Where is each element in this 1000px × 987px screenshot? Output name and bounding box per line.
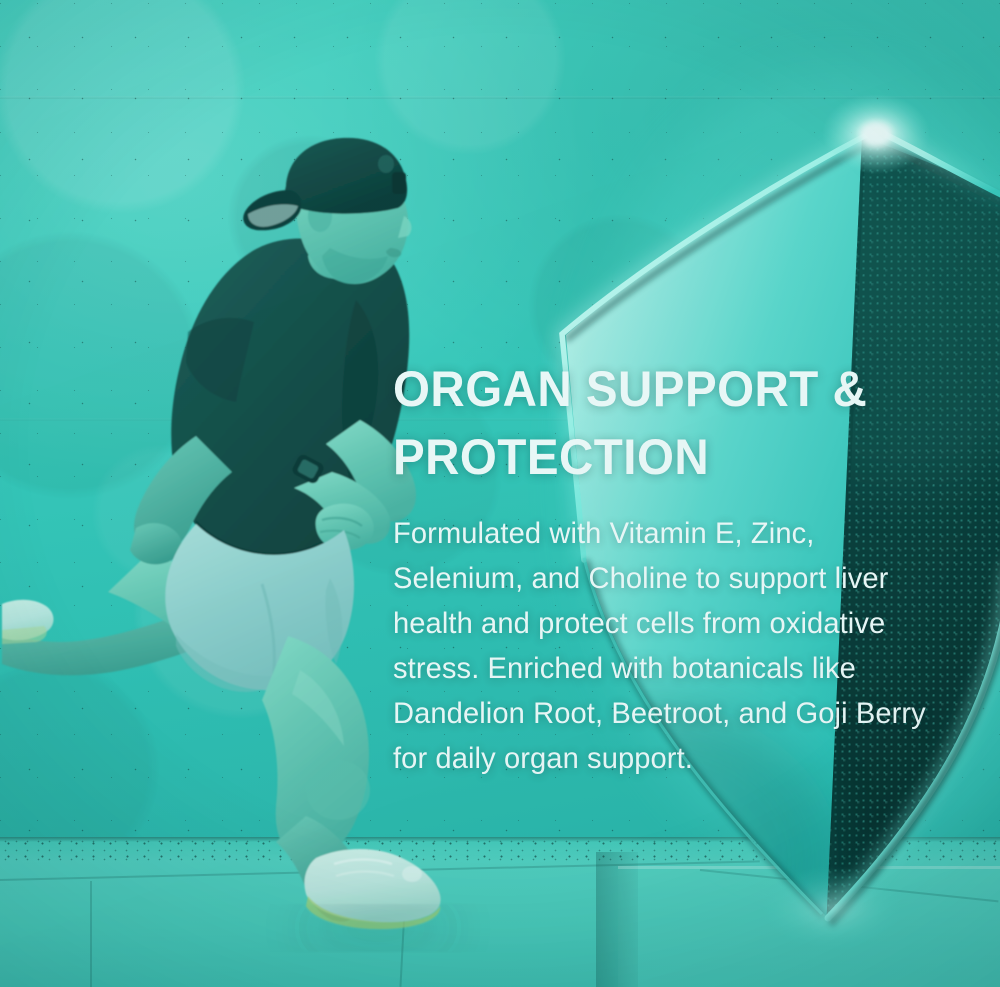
runner-cap-eyelet	[378, 155, 394, 173]
promo-banner: ORGAN SUPPORT & PROTECTION Formulated wi…	[0, 0, 1000, 987]
description-paragraph: Formulated with Vitamin E, Zinc, Seleniu…	[393, 491, 936, 781]
runner-cap	[285, 138, 407, 214]
page-title: ORGAN SUPPORT & PROTECTION	[393, 355, 925, 491]
runner-shoe-highlight	[402, 866, 422, 882]
runner-shoe-shadow	[300, 916, 456, 940]
text-block: ORGAN SUPPORT & PROTECTION Formulated wi…	[393, 355, 953, 781]
runner-knee	[306, 760, 370, 820]
runner-cap-strap	[392, 172, 406, 194]
